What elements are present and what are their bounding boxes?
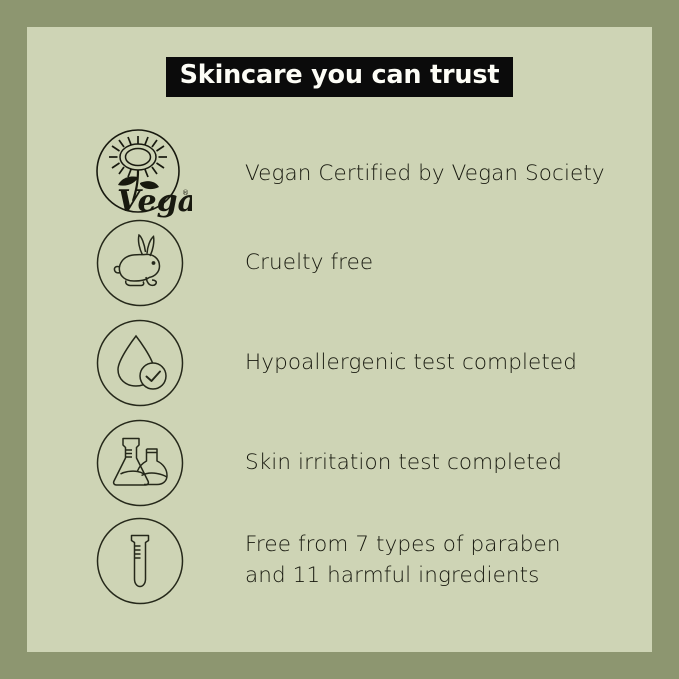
claim-label-cell: Free from 7 types of paraben and 11 harm… — [245, 530, 652, 591]
claim-icon-cell: Vegan ® — [27, 128, 245, 220]
lab-flasks-icon — [96, 419, 184, 507]
claim-row-vegan: Vegan ® Vegan Certified by Vegan Society — [27, 128, 652, 220]
claim-icon-cell — [27, 217, 245, 309]
claim-label-cell: Skin irritation test completed — [245, 448, 652, 479]
claim-icon-cell — [27, 417, 245, 509]
claim-row-cruelty-free: Cruelty free — [27, 217, 652, 309]
rabbit-eye — [152, 261, 156, 265]
title-highlight-bar: Skincare you can trust — [166, 57, 514, 97]
claim-label-cruelty-free: Cruelty free — [245, 248, 642, 279]
claim-label-hypoallergenic: Hypoallergenic test completed — [245, 348, 642, 379]
claim-icon-cell — [27, 317, 245, 409]
claim-row-skin-irritation: Skin irritation test completed — [27, 417, 652, 509]
test-tube-icon — [96, 517, 184, 605]
water-drop-check-icon — [96, 319, 184, 407]
claim-row-hypoallergenic: Hypoallergenic test completed — [27, 317, 652, 409]
claim-label-cell: Hypoallergenic test completed — [245, 348, 652, 379]
vegan-society-sunflower-logo: Vegan ® — [88, 127, 192, 221]
registered-trademark-mark: ® — [182, 189, 189, 197]
page-title: Skincare you can trust — [180, 60, 500, 90]
claim-row-free-from: Free from 7 types of paraben and 11 harm… — [27, 515, 652, 607]
title-container: Skincare you can trust — [27, 57, 652, 97]
claim-label-cell: Cruelty free — [245, 248, 652, 279]
claim-icon-cell — [27, 515, 245, 607]
rabbit-icon — [96, 219, 184, 307]
claim-label-cell: Vegan Certified by Vegan Society — [245, 159, 652, 190]
promo-card-frame: Skincare you can trust — [0, 0, 679, 679]
vegan-wordmark: Vegan — [117, 184, 192, 219]
claim-label-vegan: Vegan Certified by Vegan Society — [245, 159, 642, 190]
claim-label-skin-irritation: Skin irritation test completed — [245, 448, 642, 479]
claim-label-free-from: Free from 7 types of paraben and 11 harm… — [245, 530, 642, 591]
promo-card-panel: Skincare you can trust — [27, 27, 652, 652]
